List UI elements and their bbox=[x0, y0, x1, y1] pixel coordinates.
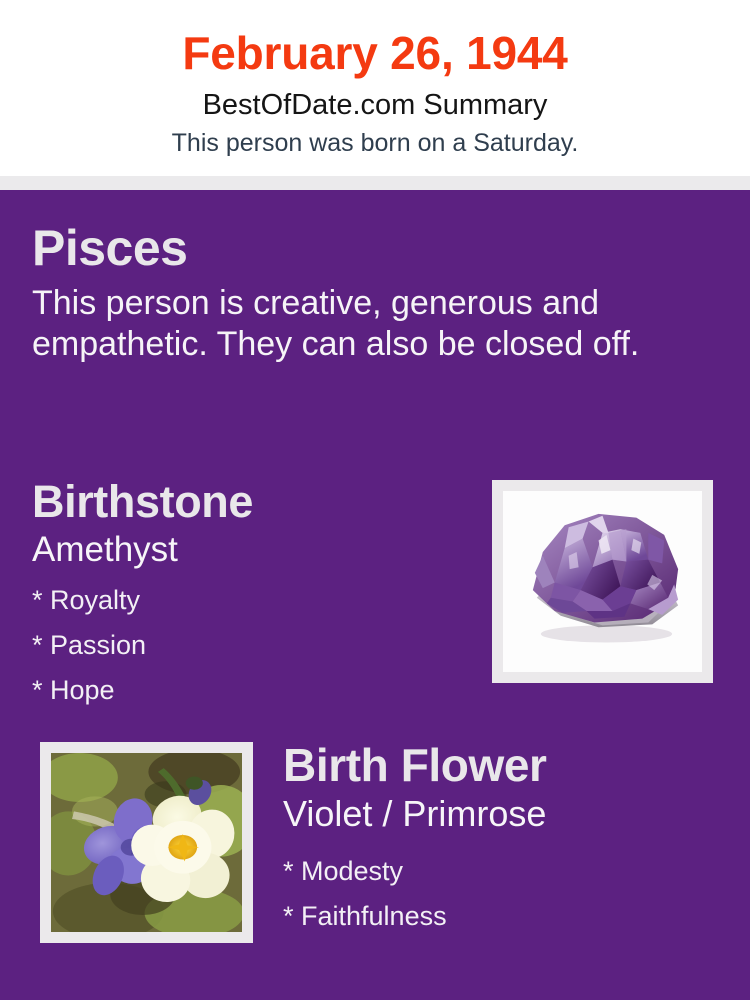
page-title-date: February 26, 1944 bbox=[0, 26, 750, 80]
birth-flower-value: Violet / Primrose bbox=[283, 793, 733, 835]
zodiac-description: This person is creative, generous and em… bbox=[32, 283, 704, 365]
list-item: * Modesty bbox=[283, 849, 733, 894]
birth-flower-photo-frame bbox=[40, 742, 253, 943]
header-divider bbox=[0, 176, 750, 190]
list-item: * Hope bbox=[32, 668, 462, 713]
birth-flower-heading: Birth Flower bbox=[283, 738, 733, 792]
birth-flower-trait-list: * Modesty * Faithfulness bbox=[283, 849, 733, 939]
list-item: * Royalty bbox=[32, 578, 462, 623]
birthstone-trait-list: * Royalty * Passion * Hope bbox=[32, 578, 462, 713]
birth-flower-photo bbox=[51, 753, 242, 932]
amethyst-crystal-icon bbox=[503, 491, 702, 672]
birthstone-value: Amethyst bbox=[32, 529, 462, 570]
violet-and-primrose-icon bbox=[51, 753, 242, 932]
list-item: * Faithfulness bbox=[283, 894, 733, 939]
birth-day-of-week-note: This person was born on a Saturday. bbox=[0, 128, 750, 158]
card-header: February 26, 1944 BestOfDate.com Summary… bbox=[0, 0, 750, 176]
birthstone-photo bbox=[503, 491, 702, 672]
birthstone-heading: Birthstone bbox=[32, 475, 462, 528]
site-summary-subtitle: BestOfDate.com Summary bbox=[0, 88, 750, 122]
list-item: * Passion bbox=[32, 623, 462, 668]
birthstone-section: Birthstone Amethyst * Royalty * Passion … bbox=[32, 475, 462, 713]
birth-flower-section: Birth Flower Violet / Primrose * Modesty… bbox=[283, 738, 733, 939]
zodiac-section: Pisces This person is creative, generous… bbox=[32, 219, 712, 365]
zodiac-sign-heading: Pisces bbox=[32, 219, 712, 277]
date-summary-card: February 26, 1944 BestOfDate.com Summary… bbox=[0, 0, 750, 1000]
birthstone-photo-frame bbox=[492, 480, 713, 683]
